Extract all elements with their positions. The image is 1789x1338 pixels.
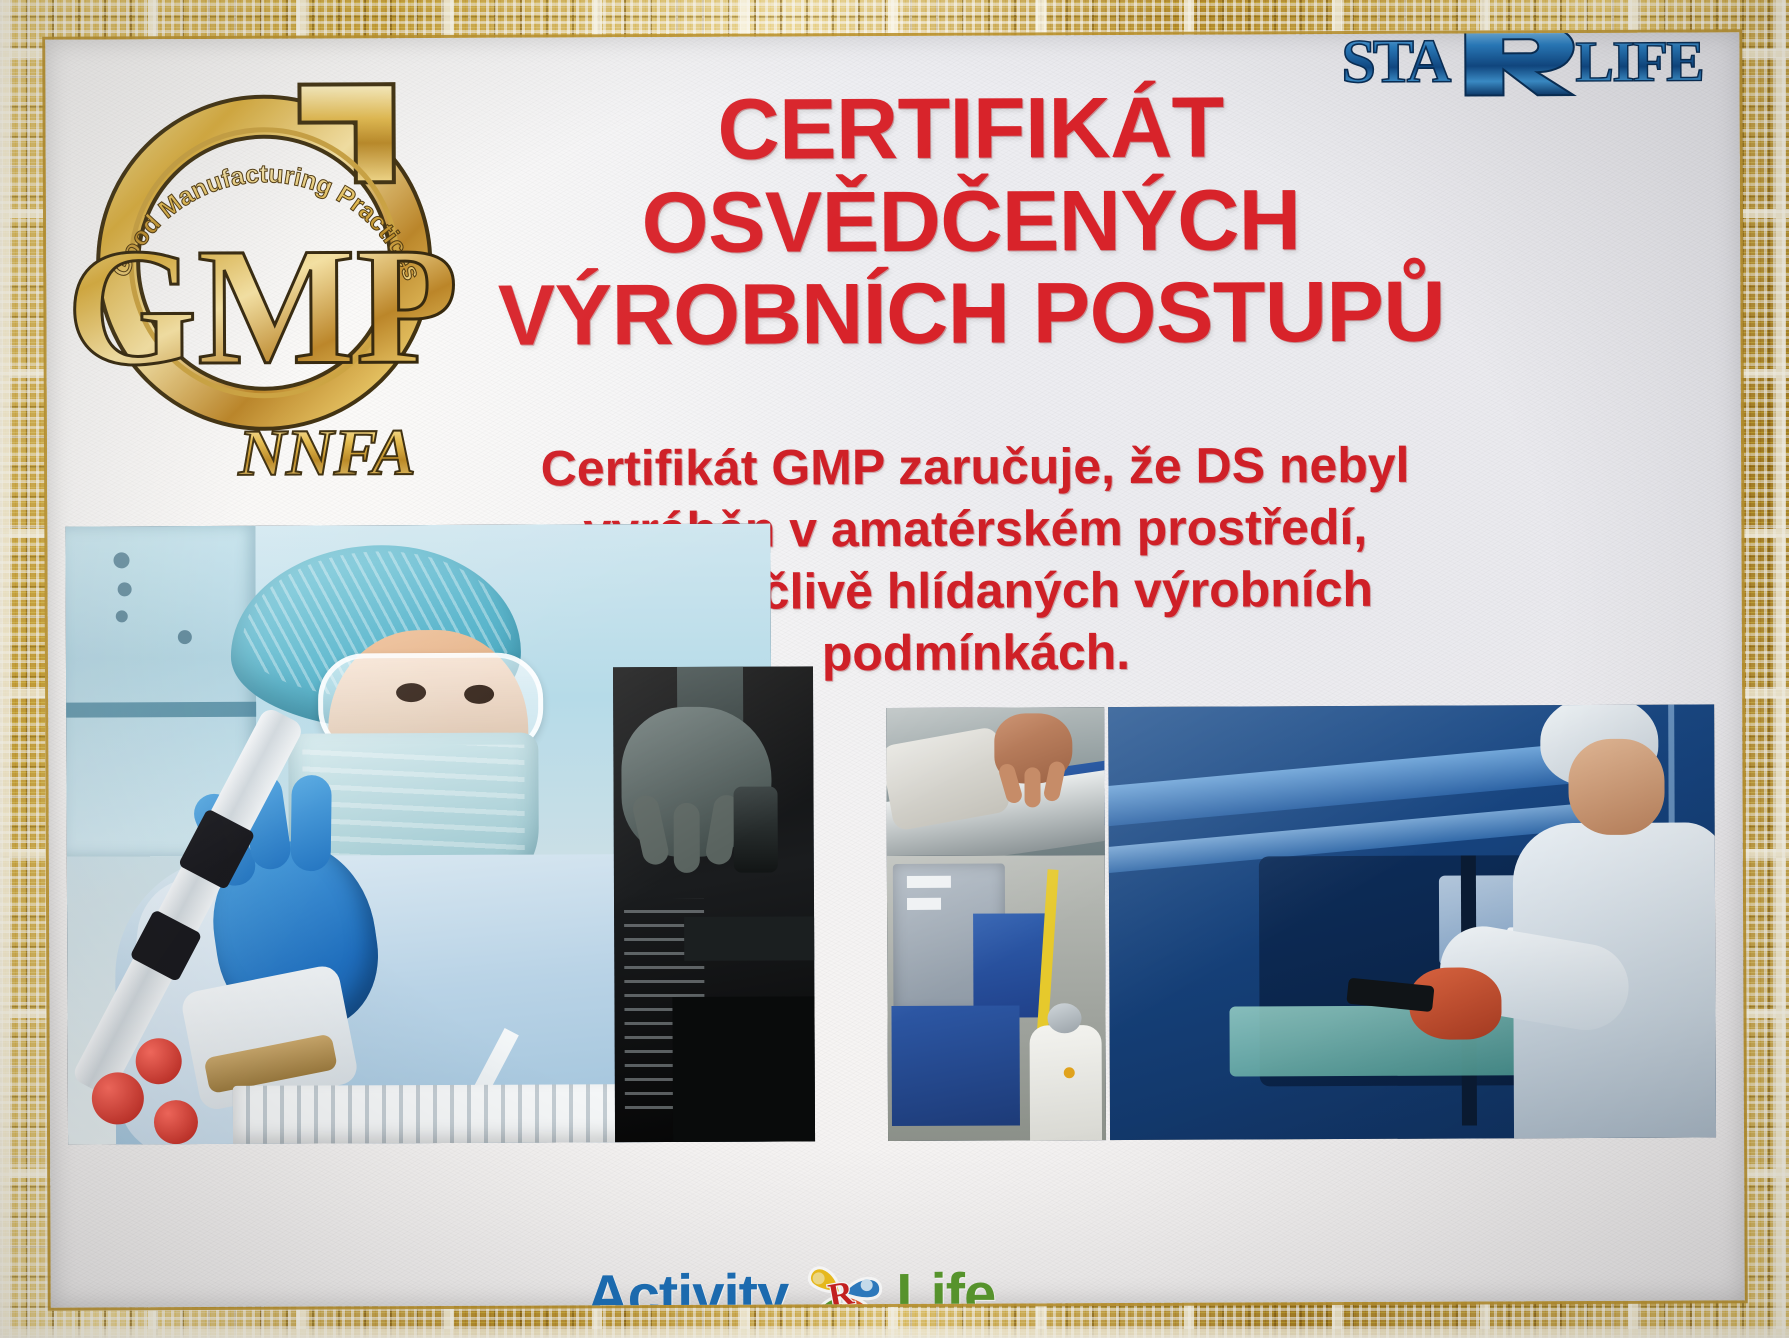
certificate-poster-image: Good Manufacturing Practices GMP NNFA	[0, 0, 1789, 1338]
photo-factory-floor	[887, 855, 1106, 1141]
headline-line-1: CERTIFIKÁT	[445, 85, 1495, 172]
activity-wordmark: Activity	[587, 1261, 789, 1308]
petal-yellow-dot	[812, 1272, 824, 1284]
flower-pinwheel-icon: R	[796, 1251, 888, 1308]
body-line-1: Certifikát GMP zaručuje, že DS nebyl	[445, 433, 1505, 500]
petal-blue-dot	[860, 1279, 872, 1291]
certificate-card: Good Manufacturing Practices GMP NNFA	[45, 32, 1745, 1307]
flower-center-letter: R	[825, 1274, 856, 1307]
activity-life-logo: Activity R Life	[587, 1248, 1007, 1308]
starlife-text-life: LIFE	[1575, 32, 1703, 94]
photo-microscope	[613, 666, 815, 1142]
photo-factory-blue-machine	[1108, 704, 1716, 1140]
page-title: CERTIFIKÁT OSVĚDČENÝCH VÝROBNÍCH POSTUPŮ	[445, 85, 1496, 357]
nnfa-association-mark: NNFA	[237, 416, 416, 490]
life-wordmark: Life	[896, 1260, 995, 1308]
headline-line-2: OSVĚDČENÝCH	[446, 178, 1496, 265]
gmp-seal-logo: Good Manufacturing Practices GMP NNFA	[63, 62, 465, 494]
gmp-monogram: GMP	[66, 213, 459, 401]
headline-line-3: VÝROBNÍCH POSTUPŮ	[446, 270, 1496, 357]
photo-factory-roll	[886, 707, 1105, 856]
